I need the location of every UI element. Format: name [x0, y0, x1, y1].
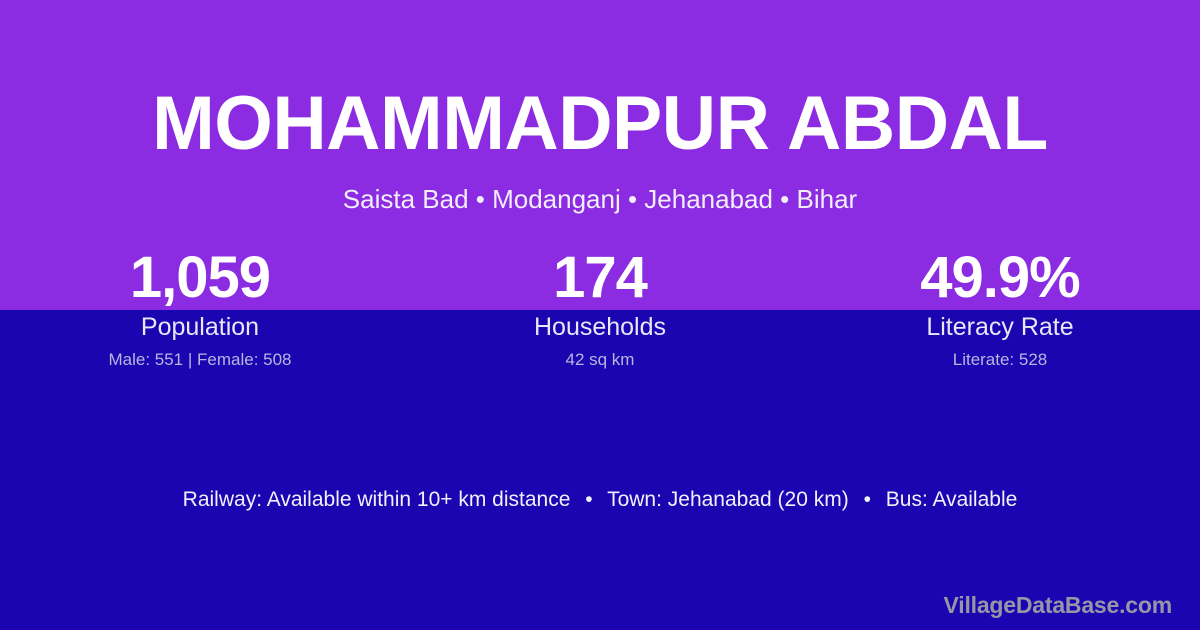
stats-row: 1,059 Population Male: 551 | Female: 508…: [0, 246, 1200, 371]
stat-literacy-count: Literate: 528: [800, 349, 1200, 371]
connectivity-info: Railway: Available within 10+ km distanc…: [0, 486, 1200, 514]
village-info-card: MOHAMMADPUR ABDAL Saista Bad • Modanganj…: [0, 0, 1200, 630]
site-brand: VillageDataBase.com: [944, 591, 1172, 619]
connectivity-railway: Railway: Available within 10+ km distanc…: [183, 488, 571, 511]
stat-population: 1,059 Population Male: 551 | Female: 508: [0, 246, 400, 371]
connectivity-separator-2: •: [855, 486, 880, 514]
stat-literacy-label: Literacy Rate: [800, 312, 1200, 342]
stat-households-label: Households: [400, 312, 800, 342]
stat-literacy-value: 49.9%: [800, 246, 1200, 310]
stat-households-value: 174: [400, 246, 800, 310]
breadcrumb: Saista Bad • Modanganj • Jehanabad • Bih…: [0, 183, 1200, 215]
stat-population-breakdown: Male: 551 | Female: 508: [0, 349, 400, 371]
stat-literacy: 49.9% Literacy Rate Literate: 528: [800, 246, 1200, 371]
connectivity-bus: Bus: Available: [886, 488, 1018, 511]
stat-households-area: 42 sq km: [400, 349, 800, 371]
stat-households: 174 Households 42 sq km: [400, 246, 800, 371]
stat-population-value: 1,059: [0, 246, 400, 310]
page-title: MOHAMMADPUR ABDAL: [6, 78, 1194, 170]
connectivity-town: Town: Jehanabad (20 km): [607, 488, 849, 511]
connectivity-separator-1: •: [576, 486, 601, 514]
stat-population-label: Population: [0, 312, 400, 342]
